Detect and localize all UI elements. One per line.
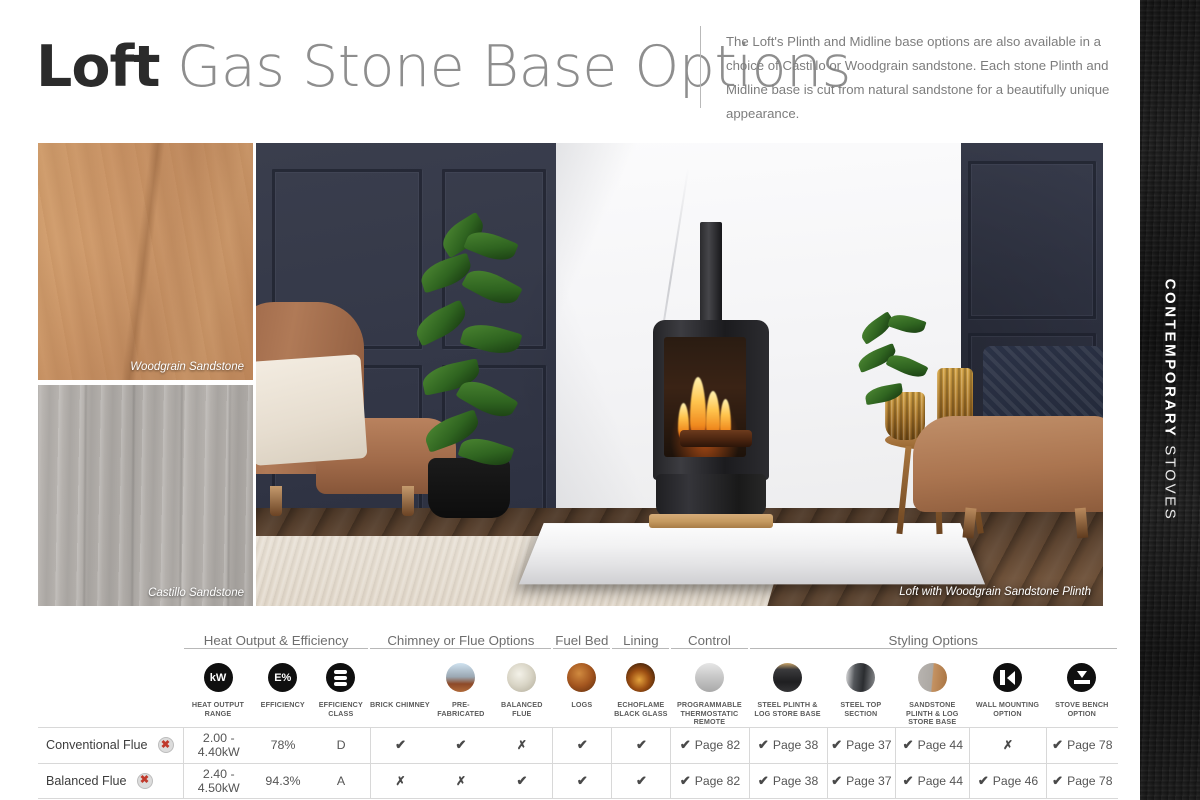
stove-body <box>653 320 769 480</box>
check-icon: ✔ <box>1052 737 1063 753</box>
table-icon-header-row: kWHEAT OUTPUT RANGEE%EFFICIENCYEFFICIENC… <box>38 657 1118 727</box>
catalogue-page: Loft Gas Stone Base Options The Loft's P… <box>0 0 1200 800</box>
brick-chimney-icon <box>385 663 414 692</box>
stove-flue-pipe <box>700 222 722 328</box>
table-column-header: BALANCED FLUE <box>491 663 552 718</box>
table-row[interactable]: Balanced Flue✖2.40 - 4.50kW94.3%A✗✗✔✔✔✔P… <box>38 763 1118 799</box>
table-column-label: WALL MOUNTING OPTION <box>969 701 1045 718</box>
table-group-rule <box>183 648 370 657</box>
row-name-label: Balanced Flue <box>46 774 127 788</box>
plant-leaf <box>864 383 904 405</box>
cell-value: 2.40 - 4.50kW <box>184 767 253 795</box>
cell-value: A <box>337 774 345 788</box>
table-cell: ✔ <box>611 763 670 799</box>
table-group-rule <box>552 648 611 657</box>
check-icon: ✔ <box>758 773 769 789</box>
table-group-rule <box>38 648 183 657</box>
programmable-thermostatic-remote-icon <box>695 663 724 692</box>
check-icon: ✔ <box>831 773 842 789</box>
check-icon: ✔ <box>577 773 588 789</box>
armchair-leg <box>1075 508 1089 539</box>
potted-plant-left <box>406 218 534 518</box>
swatch-woodgrain-sandstone: Woodgrain Sandstone <box>38 143 253 380</box>
table-column-label: EFFICIENCY CLASS <box>312 701 369 718</box>
table-column-label: PRE-FABRICATED <box>430 701 491 718</box>
table-cell: ✗ <box>491 727 552 763</box>
table-group-label: Styling Options <box>748 633 1118 648</box>
page-reference: Page 37 <box>846 738 891 752</box>
table-cell: ✔ <box>552 727 611 763</box>
cell-value: 2.00 - 4.40kW <box>184 731 253 759</box>
table-column-label: PROGRAMMABLE THERMOSTATIC REMOTE <box>670 701 748 727</box>
check-icon: ✔ <box>636 737 647 753</box>
page-spine: CONTEMPORARY STOVES <box>1140 0 1200 800</box>
page-title-product: Loft <box>36 34 160 100</box>
table-group-label: Control <box>670 633 748 648</box>
title-divider <box>700 26 701 108</box>
table-cell: ✔ <box>431 727 492 763</box>
page-reference: Page 44 <box>918 738 963 752</box>
check-icon: ✔ <box>636 773 647 789</box>
table-column-header: STEEL PLINTH & LOG STORE BASE <box>748 663 826 718</box>
wall-mounting-option-icon <box>993 663 1022 692</box>
table-cell: ✗ <box>431 763 492 799</box>
check-icon: ✔ <box>456 737 467 753</box>
check-icon: ✔ <box>395 737 406 753</box>
swatch-woodgrain-caption: Woodgrain Sandstone <box>130 361 244 373</box>
table-column-header: E%EFFICIENCY <box>253 663 312 710</box>
table-cell: 94.3% <box>254 763 313 799</box>
efficiency-icon: E% <box>268 663 297 692</box>
stove-glass-window <box>664 337 746 457</box>
page-reference: Page 44 <box>918 774 963 788</box>
table-cell: ✗ <box>370 763 431 799</box>
table-cell: ✔Page 37 <box>827 727 896 763</box>
table-cell: ✔Page 82 <box>670 763 748 799</box>
plant-pot <box>428 458 510 518</box>
image-row: Woodgrain Sandstone Castillo Sandstone <box>38 143 1103 606</box>
table-group-label: Heat Output & Efficiency <box>183 633 370 648</box>
leather-armchair-right <box>913 356 1103 546</box>
table-cell: 78% <box>254 727 313 763</box>
table-column-label: STOVE BENCH OPTION <box>1046 701 1118 718</box>
specification-table: Heat Output & EfficiencyChimney or Flue … <box>38 628 1118 799</box>
table-column-label: LOGS <box>552 701 611 710</box>
check-icon: ✔ <box>903 737 914 753</box>
cross-icon: ✗ <box>456 774 466 788</box>
table-cell: 2.00 - 4.40kW <box>183 727 253 763</box>
page-reference: Page 82 <box>695 738 740 752</box>
echoflame-black-glass-icon <box>626 663 655 692</box>
cross-icon: ✗ <box>396 774 406 788</box>
check-icon: ✔ <box>1052 773 1063 789</box>
table-group-label: Fuel Bed <box>552 633 611 648</box>
table-body: Conventional Flue✖2.00 - 4.40kW78%D✔✔✗✔✔… <box>38 727 1118 799</box>
swatch-castillo-caption: Castillo Sandstone <box>148 587 244 599</box>
intro-paragraph: The Loft's Plinth and Midline base optio… <box>726 30 1114 126</box>
row-name-label: Conventional Flue <box>46 738 148 752</box>
page-reference: Page 78 <box>1067 738 1112 752</box>
check-icon: ✔ <box>516 773 527 789</box>
table-cell: ✔ <box>491 763 552 799</box>
wall-panel <box>968 161 1096 319</box>
balanced-flue-icon <box>507 663 536 692</box>
table-column-label: STEEL PLINTH & LOG STORE BASE <box>748 701 826 718</box>
table-row[interactable]: Conventional Flue✖2.00 - 4.40kW78%D✔✔✗✔✔… <box>38 727 1118 763</box>
table-row-name: Balanced Flue✖ <box>38 763 183 799</box>
side-table-leg <box>896 446 911 534</box>
table-column-label: BRICK CHIMNEY <box>369 701 430 710</box>
table-group-rule <box>749 648 1118 657</box>
page-reference: Page 37 <box>846 774 891 788</box>
page-header: Loft Gas Stone Base Options The Loft's P… <box>0 0 1140 135</box>
table-column-label: ECHOFLAME BLACK GLASS <box>611 701 670 718</box>
swatch-castillo-sandstone: Castillo Sandstone <box>38 385 253 606</box>
table-column-label: EFFICIENCY <box>253 701 312 710</box>
table-column-label: STEEL TOP SECTION <box>827 701 896 718</box>
table-column-label: HEAT OUTPUT RANGE <box>183 701 253 718</box>
table-group-label: Chimney or Flue Options <box>369 633 552 648</box>
table-cell: ✗ <box>969 727 1045 763</box>
steel-plinth-log-store-base-icon <box>773 663 802 692</box>
pre-fabricated-flue-icon <box>446 663 475 692</box>
check-icon: ✔ <box>978 773 989 789</box>
table-cell: ✔Page 82 <box>670 727 748 763</box>
stove-log-bed <box>680 430 752 447</box>
check-icon: ✔ <box>831 737 842 753</box>
hero-photo: Loft with Woodgrain Sandstone Plinth <box>256 143 1103 606</box>
table-group-rule <box>670 648 748 657</box>
check-icon: ✔ <box>680 773 691 789</box>
plant-leaf <box>460 319 523 360</box>
spine-label-light: STOVES <box>1162 445 1179 521</box>
cell-value: D <box>337 738 346 752</box>
armchair-seat <box>913 416 1103 512</box>
loft-gas-stove <box>653 320 769 528</box>
armchair-leg <box>270 486 282 516</box>
hero-caption: Loft with Woodgrain Sandstone Plinth <box>899 586 1091 598</box>
spine-label-bold: CONTEMPORARY <box>1162 279 1179 439</box>
table-column-label: BALANCED FLUE <box>491 701 552 718</box>
table-column-header: SANDSTONE PLINTH & LOG STORE BASE <box>895 663 969 727</box>
check-icon: ✔ <box>903 773 914 789</box>
table-cell: ✔Page 78 <box>1046 763 1118 799</box>
table-group-rule <box>369 648 552 657</box>
broken-image-icon: ✖ <box>137 773 153 789</box>
table-cell: A <box>313 763 370 799</box>
efficiency-class-icon <box>326 663 355 692</box>
table-cell: ✔Page 37 <box>827 763 896 799</box>
table-column-label: SANDSTONE PLINTH & LOG STORE BASE <box>895 701 969 727</box>
table-cell: ✔Page 38 <box>749 763 827 799</box>
table-cell: ✔Page 44 <box>895 763 969 799</box>
table-column-header: ECHOFLAME BLACK GLASS <box>611 663 670 718</box>
page-reference: Page 38 <box>773 774 818 788</box>
stove-bench-option-icon <box>1067 663 1096 692</box>
table-column-header: STEEL TOP SECTION <box>827 663 896 718</box>
table-group-rule <box>611 648 670 657</box>
cell-value: 78% <box>271 738 296 752</box>
plant-leaf <box>461 262 523 311</box>
table-column-header: WALL MOUNTING OPTION <box>969 663 1045 718</box>
table-column-header: PROGRAMMABLE THERMOSTATIC REMOTE <box>670 663 748 727</box>
table-column-header: EFFICIENCY CLASS <box>312 663 369 718</box>
broken-image-icon: ✖ <box>158 737 174 753</box>
table-cell: ✔Page 78 <box>1046 727 1118 763</box>
table-column-header: LOGS <box>552 663 611 710</box>
page-reference: Page 82 <box>695 774 740 788</box>
plant-leaf <box>887 311 926 337</box>
page-reference: Page 38 <box>773 738 818 752</box>
armchair-cushion <box>256 354 367 466</box>
logs-icon <box>567 663 596 692</box>
table-cell: 2.40 - 4.50kW <box>183 763 253 799</box>
spine-label: CONTEMPORARY STOVES <box>1162 279 1179 522</box>
table-cell: ✔Page 46 <box>969 763 1045 799</box>
table-column-header: kWHEAT OUTPUT RANGE <box>183 663 253 718</box>
table-cell: ✔ <box>370 727 431 763</box>
table-row-name: Conventional Flue✖ <box>38 727 183 763</box>
check-icon: ✔ <box>758 737 769 753</box>
table-column-header: STOVE BENCH OPTION <box>1046 663 1118 718</box>
table-cell: ✔ <box>552 763 611 799</box>
table-group-header-row: Heat Output & EfficiencyChimney or Flue … <box>38 628 1118 648</box>
armchair-leg <box>962 508 976 539</box>
stove-base <box>656 474 766 516</box>
table-cell: ✔Page 38 <box>749 727 827 763</box>
table-column-header: BRICK CHIMNEY <box>369 663 430 710</box>
table-group-label: Lining <box>611 633 670 648</box>
check-icon: ✔ <box>577 737 588 753</box>
cross-icon: ✗ <box>517 738 527 752</box>
page-reference: Page 78 <box>1067 774 1112 788</box>
kw-icon: kW <box>204 663 233 692</box>
table-group-rule-row <box>38 648 1118 657</box>
table-cell: D <box>313 727 370 763</box>
cross-icon: ✗ <box>1003 738 1013 752</box>
steel-top-section-icon <box>846 663 875 692</box>
table-column-header: PRE-FABRICATED <box>430 663 491 718</box>
woodgrain-sandstone-plinth <box>649 514 773 528</box>
table-cell: ✔Page 44 <box>895 727 969 763</box>
cell-value: 94.3% <box>265 774 300 788</box>
sandstone-plinth-log-store-base-icon <box>918 663 947 692</box>
page-reference: Page 46 <box>993 774 1038 788</box>
check-icon: ✔ <box>680 737 691 753</box>
table-cell: ✔ <box>611 727 670 763</box>
